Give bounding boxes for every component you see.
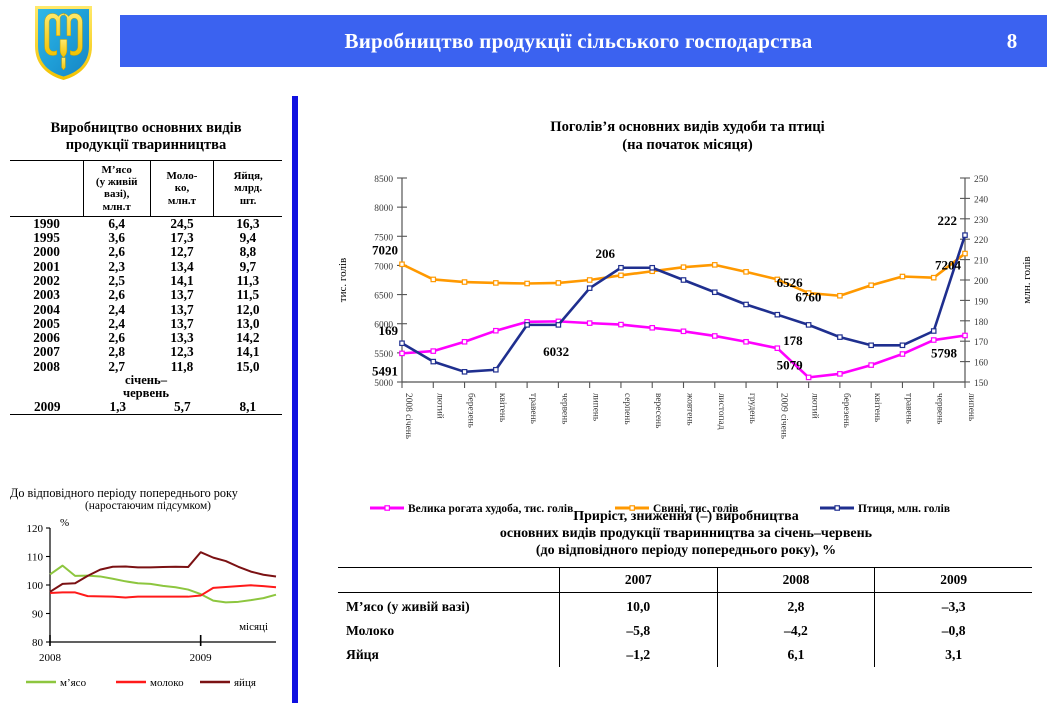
x-axis-tick-label: квітень [872,393,882,422]
y-axis-label-left: тис. голів [337,258,349,302]
col-header-blank [10,161,83,217]
data-point-marker [619,322,623,326]
x-axis-tick-label: травень [903,393,913,424]
livestock-production-final-row-table: 2009 1,3 5,7 8,1 [10,400,282,414]
table-row: 20072,812,314,1 [10,345,282,359]
milk-cell: 13,3 [150,331,214,345]
y-axis-tick-right: 180 [974,318,988,328]
data-point-marker [462,280,466,284]
milk-cell: 13,4 [150,260,214,274]
data-label: 6526 [777,275,804,290]
milk-cell: 14,1 [150,274,214,288]
series-line [50,585,276,597]
data-point-marker [775,346,779,350]
data-label: 7020 [372,242,398,257]
y-axis-tick-right: 200 [974,277,988,287]
meat-cell: 2,6 [83,288,150,302]
milk-cell: 12,3 [150,345,214,359]
y-axis-tick-left: 8500 [374,175,393,185]
data-point-marker [431,359,435,363]
data-point-marker [932,338,936,342]
data-point-marker [681,265,685,269]
data-label: 222 [938,213,958,228]
data-point-marker [400,341,404,345]
year-cell: 2007 [10,345,83,359]
data-point-marker [681,278,685,282]
data-point-marker [494,329,498,333]
table-body: М’ясо (у живій вазі)10,02,8–3,3Молоко–5,… [338,593,1032,668]
data-point-marker [932,275,936,279]
meat-cell: 3,6 [83,231,150,245]
data-point-marker [900,343,904,347]
series-line [402,254,965,296]
milk-cell: 13,7 [150,317,214,331]
livestock-production-table: М’ясо (у живій вазі), млн.т Моло- ко, мл… [10,160,282,374]
data-point-marker [556,323,560,327]
series-line [402,235,965,372]
col-header-2007: 2007 [559,568,717,593]
year-cell: 1995 [10,231,83,245]
data-label: 178 [783,333,803,348]
x-axis-tick-label: травень [528,393,538,424]
eggs-cell: 13,0 [214,317,282,331]
milk-cell: 24,5 [150,216,214,231]
row-label: Молоко [338,619,559,643]
livestock-headcount-chart: 5000550060006500700075008000850015016017… [330,160,1045,525]
livestock-chart-block: Поголів’я основних видів худоби та птиці… [330,118,1045,525]
table-row: 20082,711,815,0 [10,360,282,374]
data-label: 5079 [777,357,804,372]
y-axis-tick-right: 250 [974,175,988,185]
eggs-cell: 14,2 [214,331,282,345]
index-chart-title: До відповідного періоду попереднього рок… [4,486,292,500]
col-header-2008: 2008 [717,568,875,593]
data-point-marker [462,340,466,344]
milk-cell: 13,7 [150,303,214,317]
table-row: 20002,612,78,8 [10,245,282,259]
growth-decline-table: 2007 2008 2009 М’ясо (у живій вазі)10,02… [338,567,1032,667]
x-axis-tick-label: 2008 січень [403,393,413,439]
meat-cell: 6,4 [83,216,150,231]
x-axis-tick-label: березень [841,393,852,428]
eggs-cell: 12,0 [214,303,282,317]
y-axis-tick-right: 160 [974,359,988,369]
table-row: Молоко–5,8–4,2–0,8 [338,619,1032,643]
col-header-milk: Моло- ко, млн.т [150,161,214,217]
data-point-marker [587,286,591,290]
data-point-marker [713,290,717,294]
data-point-marker [869,283,873,287]
data-point-marker [806,375,810,379]
col-header-blank [338,568,559,593]
table-bottom-rule [10,414,282,415]
data-point-marker [494,281,498,285]
value-2009: 3,1 [875,643,1032,667]
y-axis-tick: 110 [27,552,44,564]
meat-cell: 2,8 [83,345,150,359]
legend-label: молоко [150,677,184,689]
col-header-meat: М’ясо (у живій вазі), млн.т [83,161,150,217]
data-label: 5798 [931,345,958,360]
y-axis-tick: 100 [27,580,44,592]
y-axis-tick-left: 8000 [374,204,393,214]
meat-cell: 2,5 [83,274,150,288]
eggs-cell: 9,4 [214,231,282,245]
data-point-marker [400,351,404,355]
slide-number: 8 [977,29,1047,54]
value-2008: –4,2 [717,619,875,643]
data-point-marker [525,281,529,285]
year-cell: 2003 [10,288,83,302]
x-axis-tick-label: 2009 січень [778,393,788,439]
data-point-marker [744,302,748,306]
table-header-row: М’ясо (у живій вазі), млн.т Моло- ко, мл… [10,161,282,217]
data-point-marker [587,278,591,282]
x-axis-year-label: 2008 [39,652,62,664]
data-point-marker [587,321,591,325]
data-point-marker [963,233,967,237]
x-axis-tick-label: червень [559,393,569,424]
y-axis-tick-right: 210 [974,257,988,267]
data-point-marker [838,372,842,376]
value-2009: –0,8 [875,619,1032,643]
milk-cell: 13,7 [150,288,214,302]
table-body: 19906,424,516,319953,617,39,420002,612,7… [10,216,282,374]
value-2007: –1,2 [559,643,717,667]
left-table-subnote: січень– червень [6,374,286,400]
value-2007: 10,0 [559,593,717,620]
x-axis-tick-label: червень [935,393,945,424]
x-axis-tick-label: грудень [747,393,757,424]
data-label: 5491 [372,363,398,378]
slide-title-banner: Виробництво продукції сільського господа… [120,15,1047,67]
left-table-block: Виробництво основних видів продукції тва… [6,120,286,415]
y-axis-tick-right: 190 [974,297,988,307]
data-point-marker [744,340,748,344]
value-2009: –3,3 [875,593,1032,620]
year-cell: 2008 [10,360,83,374]
left-table-title: Виробництво основних видів продукції тва… [6,120,286,154]
y-axis-label-right: млн. голів [1021,256,1033,303]
data-point-marker [681,329,685,333]
x-axis-label: місяці [239,621,268,633]
col-header-2009: 2009 [875,568,1032,593]
data-label: 206 [595,246,615,261]
year-cell: 2000 [10,245,83,259]
data-point-marker [900,352,904,356]
milk-cell: 12,7 [150,245,214,259]
meat-cell: 2,6 [83,331,150,345]
table-row: Яйця–1,26,13,1 [338,643,1032,667]
y-axis-tick-left: 7000 [374,262,393,272]
eggs-cell: 11,5 [214,288,282,302]
x-axis-tick-label: липень [966,393,976,421]
eggs-cell: 14,1 [214,345,282,359]
ukraine-trident-coat-of-arms-icon [27,2,100,84]
y-axis-tick-right: 220 [974,236,988,246]
y-axis-tick-left: 5500 [374,350,393,360]
data-point-marker [650,326,654,330]
row-label: М’ясо (у живій вазі) [338,593,559,620]
year-cell: 2005 [10,317,83,331]
data-label: 6032 [543,344,569,359]
y-axis-label: % [60,517,69,529]
data-point-marker [525,323,529,327]
growth-table-block: Приріст, зниження (–) виробництва основн… [330,508,1042,667]
data-point-marker [838,294,842,298]
eggs-cell: 9,7 [214,260,282,274]
year-cell: 2001 [10,260,83,274]
x-axis-tick-label: серпень [622,393,632,425]
year-cell: 2004 [10,303,83,317]
data-point-marker [713,334,717,338]
data-point-marker [963,251,967,255]
year-cell: 2006 [10,331,83,345]
data-point-marker [869,343,873,347]
y-axis-tick: 90 [32,609,44,621]
meat-cell: 2,7 [83,360,150,374]
data-point-marker [806,323,810,327]
year-cell: 1990 [10,216,83,231]
table-row: 20022,514,111,3 [10,274,282,288]
data-label: 6760 [795,289,821,304]
table-row: 19906,424,516,3 [10,216,282,231]
data-point-marker [462,370,466,374]
eggs-cell: 15,0 [214,360,282,374]
milk-cell: 11,8 [150,360,214,374]
data-point-marker [400,262,404,266]
table-row: М’ясо (у живій вазі)10,02,8–3,3 [338,593,1032,620]
x-axis-tick-label: лютий [434,393,445,419]
data-label: 7204 [935,258,962,273]
y-axis-tick-right: 230 [974,216,988,226]
eggs-cell: 16,3 [214,216,282,231]
page-title: Виробництво продукції сільського господа… [120,29,977,54]
table-row: 20042,413,712,0 [10,303,282,317]
value-2007: –5,8 [559,619,717,643]
meat-cell: 2,4 [83,303,150,317]
x-axis-year-label: 2009 [190,652,213,664]
table-row: 20032,613,711,5 [10,288,282,302]
table-row: 20012,313,49,7 [10,260,282,274]
data-point-marker [932,329,936,333]
data-point-marker [494,368,498,372]
data-point-marker [431,349,435,353]
value-2008: 2,8 [717,593,875,620]
data-point-marker [838,335,842,339]
x-axis-tick-label: квітень [497,393,507,422]
y-axis-tick-right: 170 [974,338,988,348]
table-row: 20062,613,314,2 [10,331,282,345]
y-axis-tick-left: 6500 [374,292,393,302]
data-point-marker [744,270,748,274]
milk-cell: 17,3 [150,231,214,245]
y-axis-tick-right: 240 [974,195,988,205]
data-point-marker [431,277,435,281]
y-axis-tick-right: 150 [974,379,988,389]
data-point-marker [869,363,873,367]
index-chart-block: До відповідного періоду попереднього рок… [4,486,292,694]
data-point-marker [963,333,967,337]
data-point-marker [619,266,623,270]
data-point-marker [556,281,560,285]
meat-cell: 2,6 [83,245,150,259]
table-row: 2009 1,3 5,7 8,1 [10,400,282,414]
meat-cell: 2,4 [83,317,150,331]
year-cell: 2002 [10,274,83,288]
x-axis-tick-label: липень [591,393,601,421]
x-axis-tick-label: листопад [716,393,726,430]
growth-table-title: Приріст, зниження (–) виробництва основн… [330,508,1042,559]
eggs-cell: 11,3 [214,274,282,288]
data-point-marker [900,274,904,278]
data-point-marker [775,312,779,316]
data-point-marker [650,266,654,270]
x-axis-tick-label: березень [466,393,477,428]
table-row: 19953,617,39,4 [10,231,282,245]
index-chart: 8090100110120%місяці20082009м’ясомолокоя… [4,514,292,694]
value-2008: 6,1 [717,643,875,667]
table-header-row: 2007 2008 2009 [338,568,1032,593]
data-point-marker [619,273,623,277]
eggs-cell: 8,8 [214,245,282,259]
y-axis-tick-left: 5000 [374,379,393,389]
row-label: Яйця [338,643,559,667]
index-chart-subtitle: (наростаючим підсумком) [4,500,292,512]
y-axis-tick: 80 [32,637,44,649]
vertical-divider [292,96,298,703]
data-point-marker [713,263,717,267]
x-axis-tick-label: жовтень [685,392,695,426]
meat-cell: 2,3 [83,260,150,274]
legend-label: яйця [234,677,256,689]
x-axis-tick-label: лютий [810,393,821,419]
table-row: 20052,413,713,0 [10,317,282,331]
col-header-eggs: Яйця, млрд. шт. [214,161,282,217]
x-axis-tick-label: вересень [653,393,663,428]
y-axis-tick: 120 [27,523,44,535]
legend-label: м’ясо [60,677,87,689]
data-label: 169 [379,323,399,338]
livestock-chart-title: Поголів’я основних видів худоби та птиці… [330,118,1045,154]
